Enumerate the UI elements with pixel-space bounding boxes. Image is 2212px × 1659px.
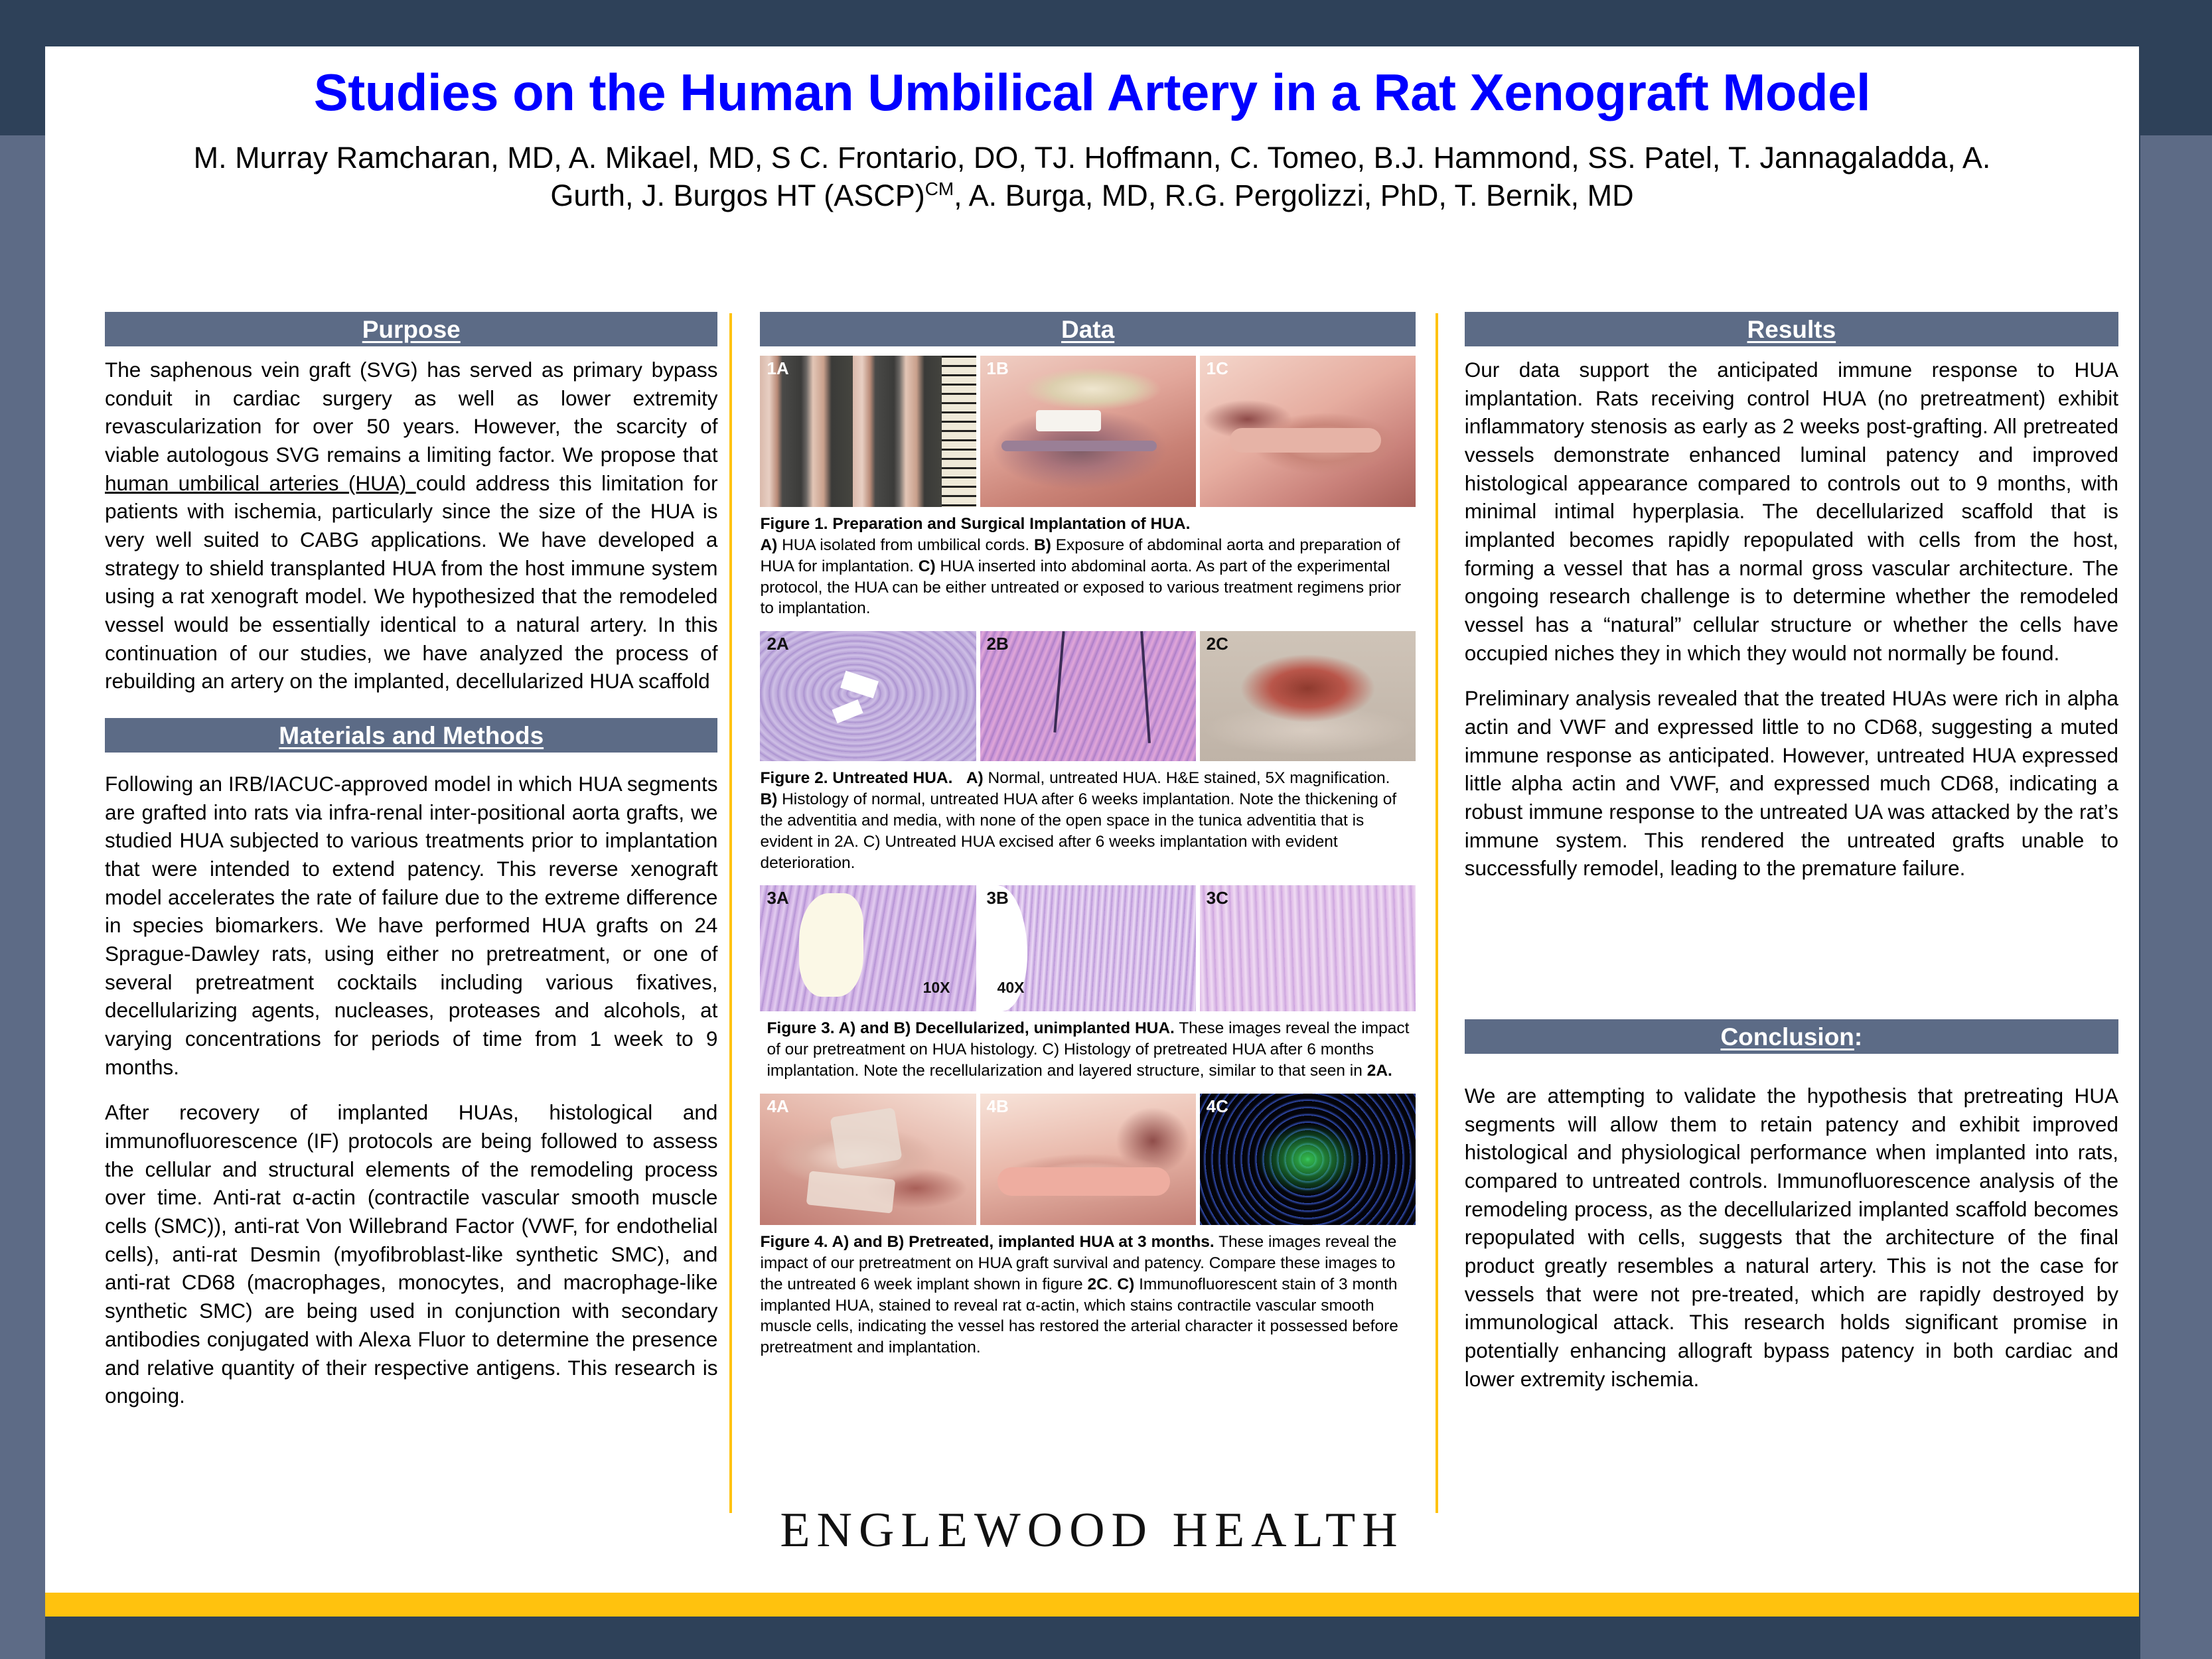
figure-panel-2c: 2C [1200,631,1416,761]
conclusion-paragraph: We are attempting to validate the hypoth… [1465,1082,2118,1393]
figure-panel-3c: 3C [1200,885,1416,1011]
panel-label-3a: 3A [767,889,788,906]
figure-1-caption: Figure 1. Preparation and Surgical Impla… [760,514,1415,619]
section-title-data: Data [1061,317,1114,342]
englewood-health-logo: ENGLEWOOD HEALTH [780,1502,1404,1559]
author-credential-superscript: CM [925,179,954,199]
figure-4-caption-body2: . [1108,1275,1118,1293]
section-title-materials: Materials and Methods [279,723,544,748]
figure-panel-2b: 2B [980,631,1196,761]
figure-2-caption: Figure 2. Untreated HUA. A) Normal, untr… [760,768,1415,873]
magnification-label-40x: 40X [997,979,1025,997]
panel-label-2b: 2B [987,635,1009,652]
section-header-data: Data [760,312,1415,346]
figure-panel-3a: 3A 10X [760,885,976,1011]
purpose-text-part2: could address this limitation for patien… [105,471,717,693]
title-block: Studies on the Human Umbilical Artery in… [45,46,2139,215]
section-header-purpose: Purpose [105,312,717,346]
section-header-results: Results [1465,312,2118,346]
figure-1-images: 1A 1B 1C [760,356,1415,507]
panel-label-3b: 3B [987,889,1009,906]
figure-3-caption: Figure 3. A) and B) Decellularized, unim… [760,1018,1415,1082]
figure-panel-1b: 1B [980,356,1196,507]
panel-label-3c: 3C [1207,889,1228,906]
figure-panel-1a: 1A [760,356,976,507]
panel-label-4c: 4C [1207,1098,1228,1115]
figure-4-caption-c-tag: C) [1117,1275,1134,1293]
section-title-purpose: Purpose [362,317,461,342]
poster-sheet: Studies on the Human Umbilical Artery in… [45,46,2139,1593]
panel-label-1a: 1A [767,360,788,377]
panel-label-2a: 2A [767,635,788,652]
frame-right-band [2140,135,2212,1659]
purpose-paragraph: The saphenous vein graft (SVG) has serve… [105,356,717,695]
figure-2-caption-a: Normal, untreated HUA. H&E stained, 5X m… [984,769,1390,787]
section-header-materials: Materials and Methods [105,718,717,753]
figure-2-caption-lead: Figure 2. Untreated HUA. [760,769,952,787]
figure-3-caption-tail: 2A. [1367,1062,1392,1080]
alpha-symbol: α [293,1185,305,1209]
materials-paragraph-2: After recovery of implanted HUAs, histol… [105,1098,717,1409]
panel-label-1c: 1C [1207,360,1228,377]
figure-4-images: 4A 4B 4C [760,1094,1415,1225]
figure-4-caption-lead: Figure 4. A) and B) Pretreated, implante… [760,1233,1214,1251]
figure-2-caption-b-tag: B) [760,790,777,808]
column-right: Results Our data support the anticipated… [1438,312,2125,1513]
figure-panel-4b: 4B [980,1094,1196,1225]
purpose-text-underlined: human umbilical arteries (HUA) [105,471,416,495]
materials-text-part2: -actin (contractile vascular smooth musc… [105,1185,717,1407]
figure-2-caption-b: Histology of normal, untreated HUA after… [760,790,1396,872]
author-list-tail: , A. Burga, MD, R.G. Pergolizzi, PhD, T.… [954,179,1633,212]
figure-4-caption-ref-2c: 2C [1087,1275,1108,1293]
column-left: Purpose The saphenous vein graft (SVG) h… [61,312,729,1513]
figure-3-caption-lead: Figure 3. A) and B) Decellularized, unim… [767,1019,1174,1037]
figure-panel-1c: 1C [1200,356,1416,507]
frame-left-band [0,135,45,1659]
section-header-conclusion: Conclusion [1465,1019,2118,1054]
panel-label-4b: 4B [987,1098,1009,1115]
figure-1-caption-c-tag: C) [919,557,936,575]
section-title-conclusion: Conclusion [1720,1025,1862,1049]
panel-label-2c: 2C [1207,635,1228,652]
section-title-results: Results [1747,317,1836,342]
panel-label-1b: 1B [987,360,1009,377]
figure-1-caption-a: HUA isolated from umbilical cords. [777,536,1034,554]
figure-4-caption: Figure 4. A) and B) Pretreated, implante… [760,1232,1415,1358]
figure-2-images: 2A 2B 2C [760,631,1415,761]
purpose-text-part1: The saphenous vein graft (SVG) has serve… [105,358,717,467]
figure-panel-4a: 4A [760,1094,976,1225]
panel-label-4a: 4A [767,1098,788,1115]
magnification-label-10x: 10X [923,979,950,997]
poster-columns: Purpose The saphenous vein graft (SVG) h… [61,312,2125,1513]
figure-1-caption-a-tag: A) [760,536,777,554]
page-title: Studies on the Human Umbilical Artery in… [105,65,2079,120]
materials-paragraph-1: Following an IRB/IACUC-approved model in… [105,770,717,1081]
figure-2-caption-a-tag: A) [966,769,984,787]
column-data: Data 1A 1B 1C [732,312,1435,1513]
figure-3-images: 3A 10X 3B 40X 3C [760,885,1415,1011]
figure-panel-4c: 4C [1200,1094,1416,1225]
figure-panel-3b: 3B 40X [980,885,1196,1011]
results-paragraph-1: Our data support the anticipated immune … [1465,356,2118,667]
results-paragraph-2: Preliminary analysis revealed that the t… [1465,684,2118,883]
poster-footer: ENGLEWOOD HEALTH [45,1468,2139,1593]
author-list: M. Murray Ramcharan, MD, A. Mikael, MD, … [184,139,2000,215]
accent-bar-yellow [45,1593,2139,1617]
figure-1-caption-lead: Figure 1. Preparation and Surgical Impla… [760,515,1190,533]
figure-panel-2a: 2A [760,631,976,761]
figure-1-caption-b-tag: B) [1034,536,1051,554]
